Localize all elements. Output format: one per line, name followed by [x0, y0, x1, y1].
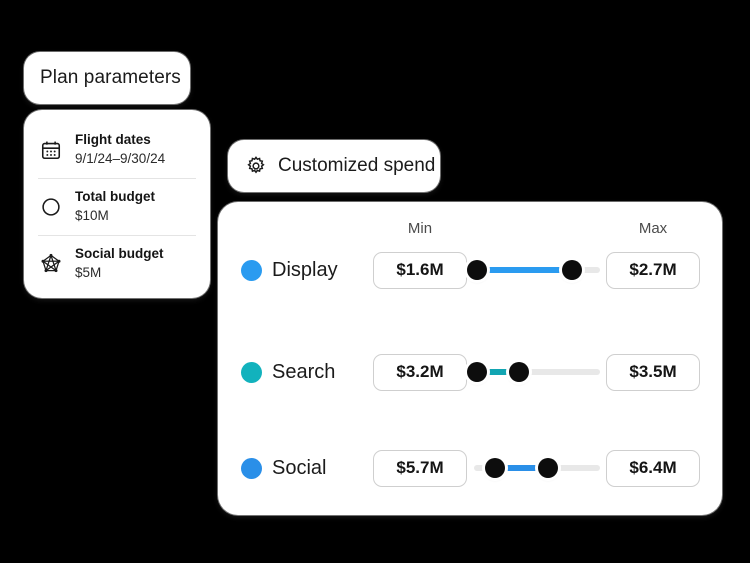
- plan-item-value: 9/1/24–9/30/24: [75, 151, 165, 166]
- plan-item-social-budget: Social budget $5M: [38, 238, 196, 290]
- range-slider-search[interactable]: [474, 360, 600, 384]
- social-network-star-icon: [38, 251, 64, 277]
- range-slider-display[interactable]: [474, 258, 600, 282]
- screen-root: Plan parameters Flight date: [0, 0, 750, 563]
- max-value-field[interactable]: $3.5M: [606, 354, 700, 391]
- range-slider-social[interactable]: [474, 456, 600, 480]
- channel-label: Social: [272, 457, 326, 480]
- channel-color-dot: [241, 458, 262, 479]
- plan-parameters-card: Flight dates 9/1/24–9/30/24 Total budget…: [24, 110, 210, 298]
- customized-spend-title: Customized spend: [278, 155, 435, 177]
- channel-label: Display: [272, 259, 338, 282]
- slider-fill: [477, 267, 573, 273]
- channel-label: Search: [272, 361, 335, 384]
- plan-item-title: Social budget: [75, 246, 164, 261]
- plan-item-flight-dates: Flight dates 9/1/24–9/30/24: [38, 124, 196, 176]
- plan-item-value: $5M: [75, 265, 101, 280]
- plan-item-title: Flight dates: [75, 132, 151, 147]
- slider-handle-min[interactable]: [467, 362, 487, 382]
- slider-handle-min[interactable]: [467, 260, 487, 280]
- max-value-field[interactable]: $2.7M: [606, 252, 700, 289]
- slider-handle-max[interactable]: [509, 362, 529, 382]
- min-value-field[interactable]: $3.2M: [373, 354, 467, 391]
- divider: [38, 178, 196, 179]
- plan-parameters-title: Plan parameters: [40, 67, 181, 89]
- customized-spend-header: Customized spend: [228, 140, 440, 192]
- channel-color-dot: [241, 260, 262, 281]
- max-value-field[interactable]: $6.4M: [606, 450, 700, 487]
- divider: [38, 235, 196, 236]
- column-header-max: Max: [603, 220, 703, 237]
- channel-color-dot: [241, 362, 262, 383]
- slider-handle-min[interactable]: [485, 458, 505, 478]
- plan-item-title: Total budget: [75, 189, 155, 204]
- spend-row-social: Social $5.7M $6.4M: [218, 448, 722, 488]
- slider-handle-max[interactable]: [562, 260, 582, 280]
- min-value-field[interactable]: $1.6M: [373, 252, 467, 289]
- circle-icon: [38, 194, 64, 220]
- spend-row-search: Search $3.2M $3.5M: [218, 352, 722, 392]
- column-header-min: Min: [370, 220, 470, 237]
- slider-handle-max[interactable]: [538, 458, 558, 478]
- min-value-field[interactable]: $5.7M: [373, 450, 467, 487]
- gear-icon: [244, 154, 268, 178]
- spend-row-display: Display $1.6M $2.7M: [218, 250, 722, 290]
- plan-item-value: $10M: [75, 208, 109, 223]
- plan-parameters-header: Plan parameters: [24, 52, 190, 104]
- plan-item-total-budget: Total budget $10M: [38, 181, 196, 233]
- customized-spend-panel: Min Max Display $1.6M $2.7M Search $3.2M: [218, 202, 722, 515]
- calendar-icon: [38, 137, 64, 163]
- column-headers: Min Max: [218, 220, 722, 242]
